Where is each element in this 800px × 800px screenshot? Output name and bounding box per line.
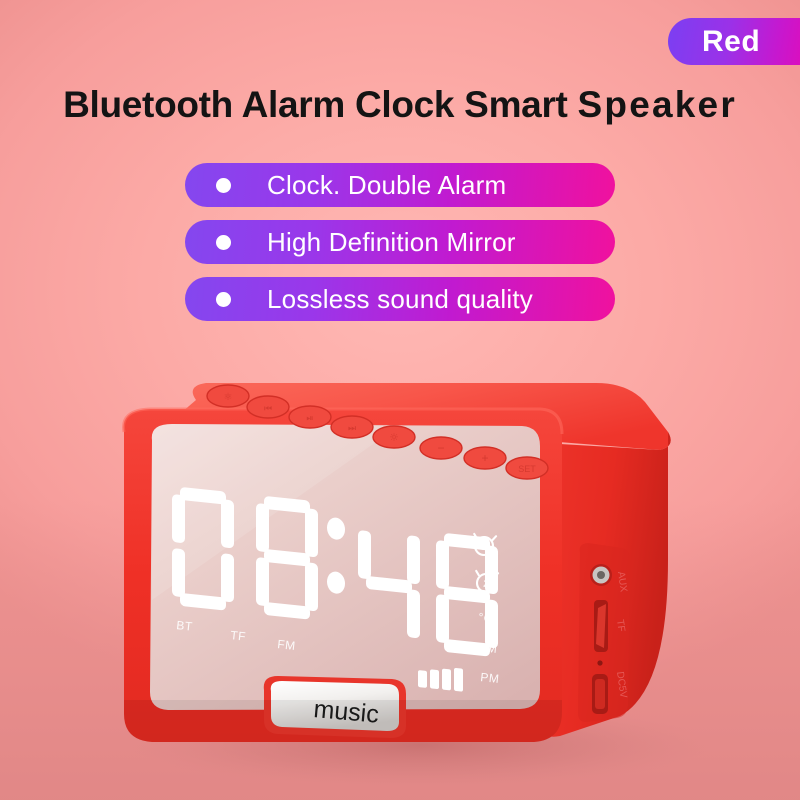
aux-port — [590, 564, 612, 586]
svg-text:SET: SET — [518, 464, 536, 474]
previous-track-button: ⏮ — [247, 396, 289, 418]
display-label-tf: TF — [230, 628, 247, 644]
display-label-fm: FM — [277, 637, 297, 653]
volume-up-button: + — [464, 447, 506, 469]
indicator-am: AM — [478, 640, 498, 656]
power-button: ⚛ — [207, 385, 249, 407]
svg-text:⏮: ⏮ — [264, 404, 272, 414]
svg-text:⏭: ⏭ — [348, 424, 356, 434]
set-button: SET — [506, 457, 548, 479]
play-pause-button: ⏯ — [289, 406, 331, 428]
volume-down-button: − — [420, 437, 462, 459]
svg-text:+: + — [481, 451, 488, 465]
svg-text:☼: ☼ — [389, 431, 399, 444]
indicator-pm: PM — [480, 670, 500, 686]
svg-text:⏯: ⏯ — [306, 414, 313, 424]
product-image: ⚛ ⏮ ⏯ ⏭ ☼ − + SET — [0, 0, 800, 800]
display-label-bt: BT — [176, 618, 194, 634]
next-track-button: ⏭ — [331, 416, 373, 438]
tf-slot-label: TF — [614, 619, 627, 633]
indicator-celsius: °C — [478, 610, 494, 625]
front-bottom-shade — [124, 700, 562, 742]
svg-text:⚛: ⚛ — [224, 392, 233, 403]
brightness-button: ☼ — [373, 426, 415, 448]
svg-text:−: − — [437, 441, 444, 455]
tf-card-slot — [594, 600, 608, 652]
side-port-panel: AUX TF DC5V — [578, 543, 630, 722]
